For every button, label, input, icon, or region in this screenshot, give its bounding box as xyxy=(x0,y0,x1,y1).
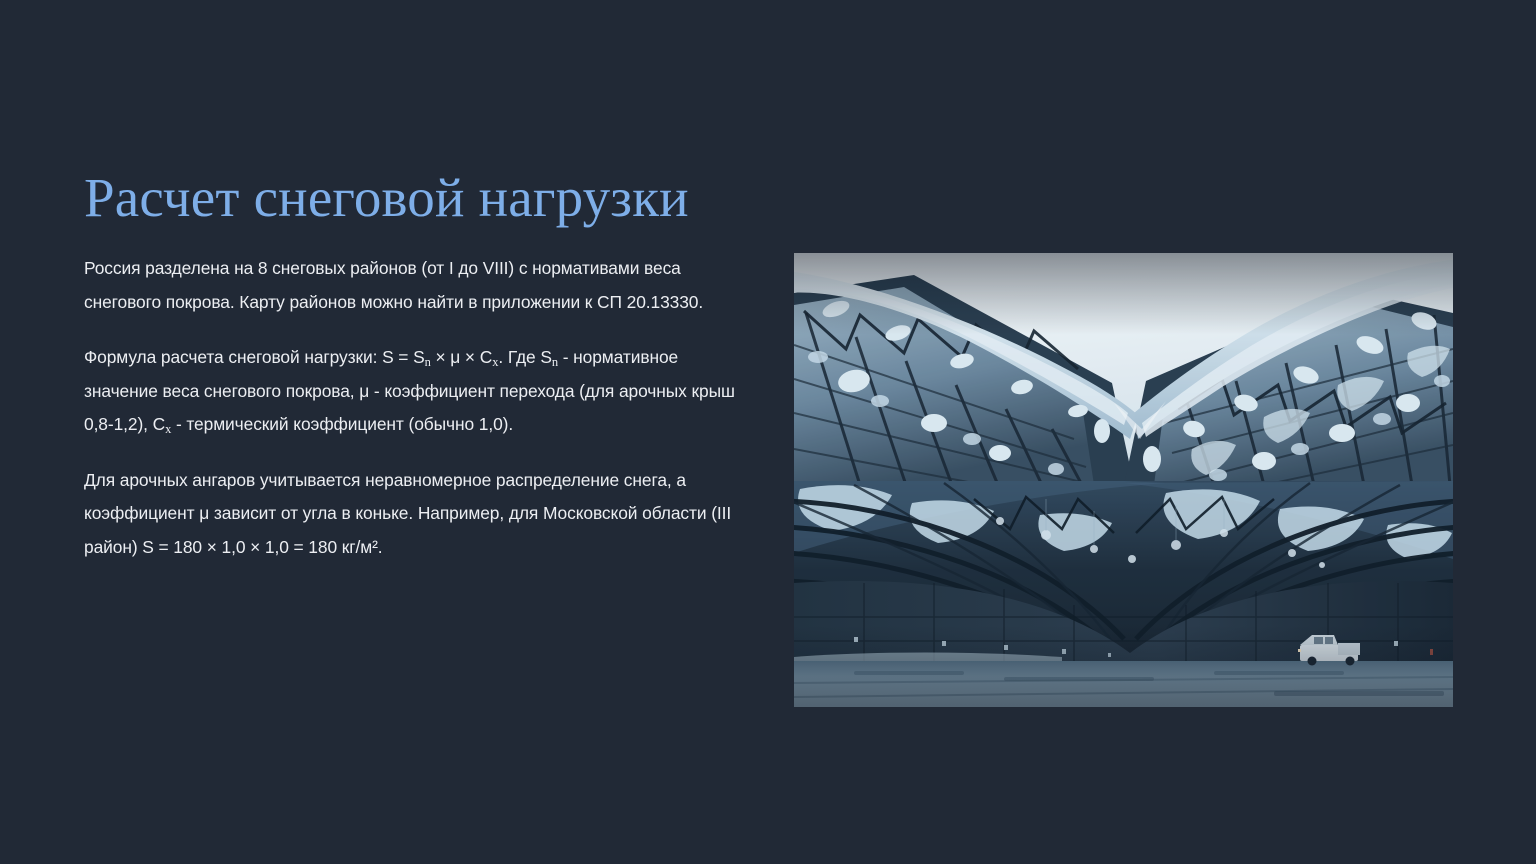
hangar-photo: Фотография арочного ангара: снизу вверх … xyxy=(794,253,1453,707)
text-run: Для арочных ангаров учитывается неравном… xyxy=(84,470,731,557)
text-run: Россия разделена на 8 снеговых районов (… xyxy=(84,258,703,312)
paragraph-arched-hangars: Для арочных ангаров учитывается неравном… xyxy=(84,464,756,565)
paragraph-snow-formula: Формула расчета снеговой нагрузки: S = S… xyxy=(84,341,756,442)
text-run: . Где S xyxy=(498,347,551,367)
paragraph-snow-regions: Россия разделена на 8 снеговых районов (… xyxy=(84,252,756,319)
text-run: × μ × C xyxy=(431,347,492,367)
text-run: - термический коэффициент (обычно 1,0). xyxy=(171,414,513,434)
page-title: Расчет снеговой нагрузки xyxy=(84,165,984,231)
slide-root: Расчет снеговой нагрузки Россия разделен… xyxy=(0,0,1536,864)
text-run: Формула расчета снеговой нагрузки: S = S xyxy=(84,347,425,367)
body-text-column: Россия разделена на 8 снеговых районов (… xyxy=(84,252,756,564)
hangar-photo-stage xyxy=(794,253,1453,707)
hangar-photo-artwork xyxy=(794,253,1453,707)
